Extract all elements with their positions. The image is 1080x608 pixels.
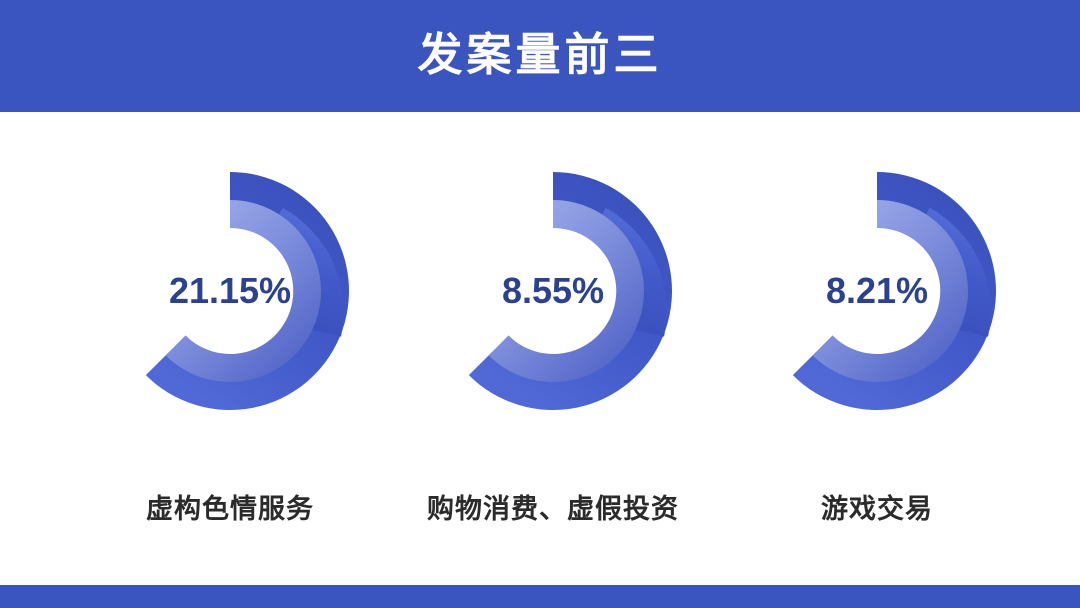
- donut-chart-1: 21.15%: [99, 160, 361, 422]
- donut-chart-item: 8.21% 游戏交易: [712, 112, 1042, 585]
- page-title: 发案量前三: [417, 32, 662, 81]
- main-content-area: 21.15% 虚构色情服务: [0, 112, 1080, 585]
- page-header-banner: 发案量前三: [0, 0, 1080, 112]
- donut-chart-item: 21.15% 虚构色情服务: [65, 112, 395, 585]
- donut-chart-3-graphic: [746, 160, 1008, 422]
- donut-chart-2: 8.55%: [422, 160, 684, 422]
- donut-chart-1-graphic: [99, 160, 361, 422]
- donut-chart-row: 21.15% 虚构色情服务: [0, 112, 1080, 585]
- donut-chart-1-label: 虚构色情服务: [65, 487, 395, 526]
- donut-chart-2-label: 购物消费、虚假投资: [388, 487, 718, 526]
- donut-chart-2-graphic: [422, 160, 684, 422]
- donut-chart-3-label: 游戏交易: [712, 487, 1042, 526]
- page-footer-bar: [0, 585, 1080, 608]
- donut-chart-item: 8.55% 购物消费、虚假投资: [388, 112, 718, 585]
- donut-chart-3: 8.21%: [746, 160, 1008, 422]
